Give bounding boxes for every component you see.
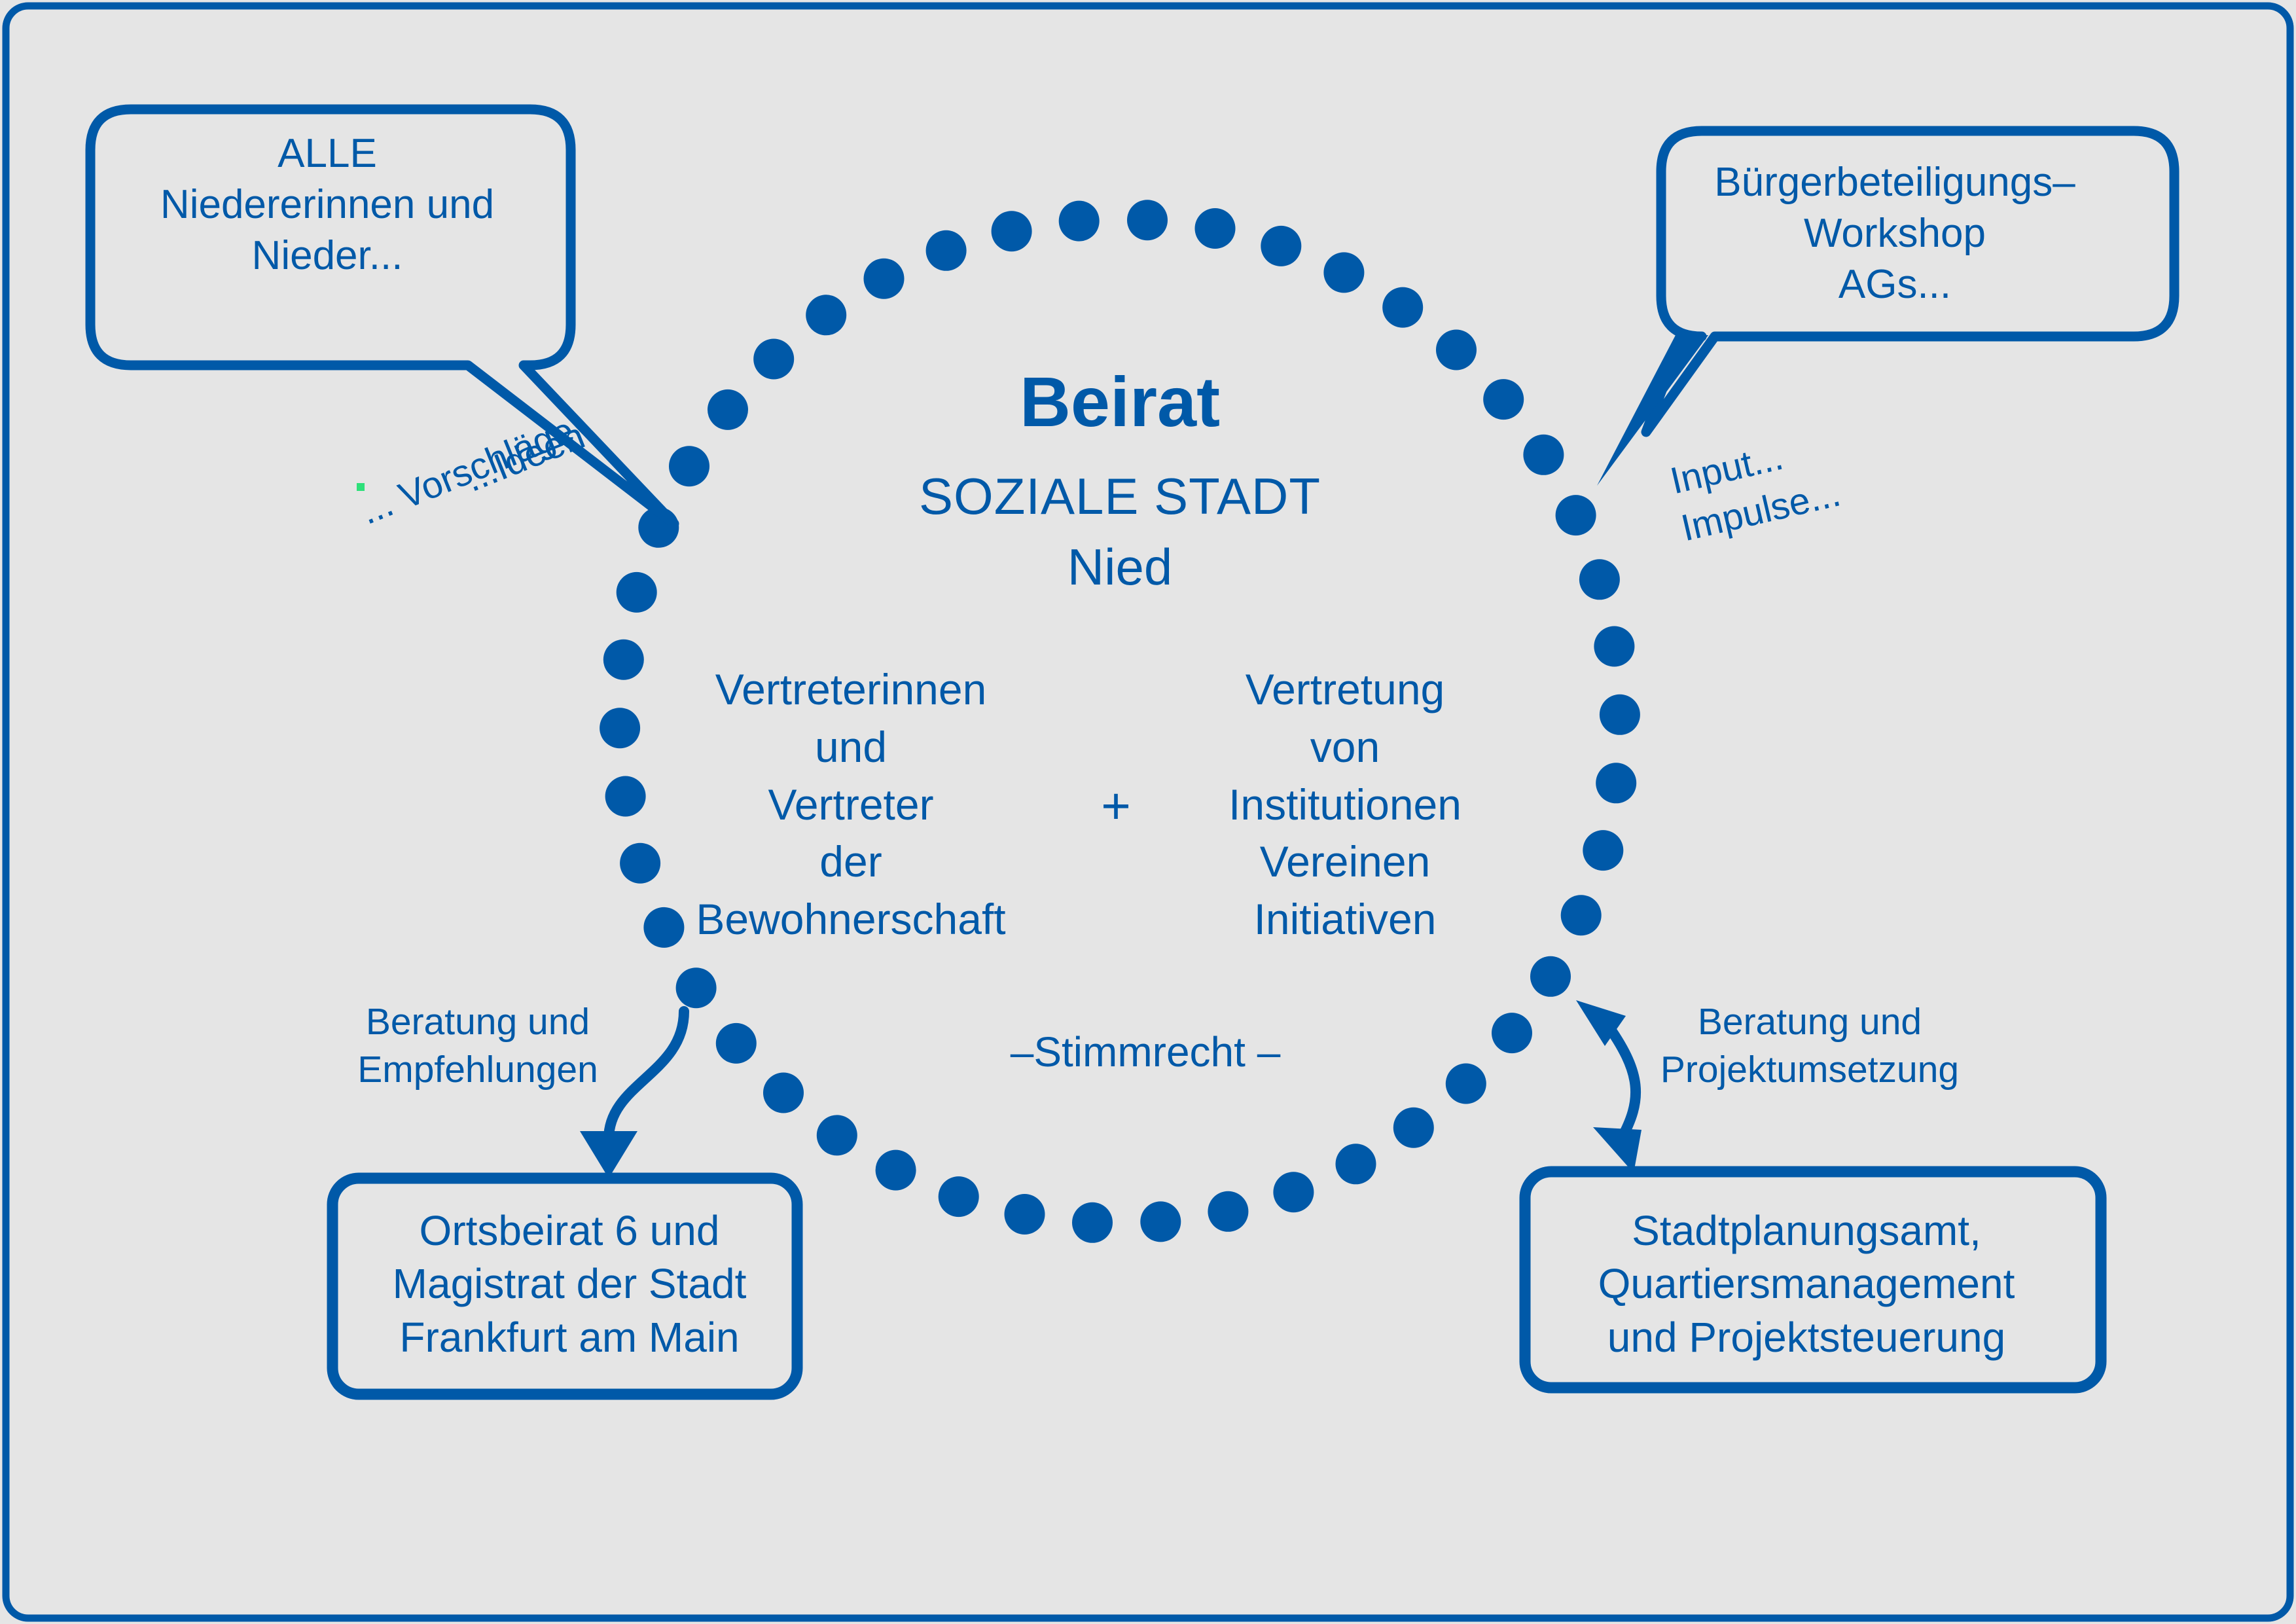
ring-dot <box>876 1150 916 1191</box>
diagram-vector-layer <box>0 0 2296 1624</box>
ring-dot <box>600 708 640 748</box>
ring-dot <box>864 259 905 299</box>
ring-dot <box>1594 626 1634 667</box>
ring-dot <box>605 776 646 817</box>
ring-dot <box>1127 200 1168 240</box>
green-accent-marker <box>357 483 365 491</box>
ring-dot <box>1393 1108 1434 1148</box>
ring-dot <box>1072 1202 1113 1243</box>
arrow-beratung-projektumsetzung <box>1576 1000 1641 1173</box>
ring-dot <box>716 1023 757 1064</box>
ring-dot <box>1261 226 1301 266</box>
ring-dot <box>1382 287 1423 328</box>
ring-dot <box>1583 830 1623 871</box>
box-ortsbeirat[interactable] <box>332 1178 797 1394</box>
ring-dot <box>1059 201 1100 242</box>
ring-dot <box>939 1176 979 1217</box>
ring-dot <box>1005 1194 1045 1235</box>
speech-bubble-top-right[interactable] <box>1597 131 2174 486</box>
ring-dot <box>676 967 717 1008</box>
ring-dot <box>806 295 846 335</box>
ring-dot <box>817 1115 857 1155</box>
ring-dot <box>1596 763 1636 803</box>
arrow-beratung-empfehlungen <box>580 1011 684 1178</box>
diagram-canvas: ALLE Niedererinnen und Nieder... Bürgerb… <box>0 0 2296 1624</box>
ring-dot <box>1273 1172 1314 1212</box>
ring-dot <box>992 211 1032 251</box>
ring-dot <box>620 843 660 884</box>
outer-rounded-frame <box>6 6 2290 1618</box>
ring-dot <box>1492 1013 1532 1053</box>
ring-dot <box>1483 379 1524 420</box>
ring-dot <box>1600 695 1640 735</box>
dotted-circle <box>600 200 1640 1243</box>
ring-dot <box>669 446 709 486</box>
ring-dot <box>1336 1144 1376 1184</box>
ring-dot <box>1436 330 1477 370</box>
ring-dot <box>1530 956 1571 997</box>
ring-dot <box>617 572 657 613</box>
ring-dot <box>1523 435 1564 475</box>
ring-dot <box>1195 208 1236 249</box>
ring-dot <box>926 230 967 271</box>
ring-dot <box>1208 1191 1248 1232</box>
speech-bubble-top-left[interactable] <box>90 109 674 524</box>
box-stadtplanungsamt[interactable] <box>1525 1172 2101 1388</box>
ring-dot <box>1561 895 1602 935</box>
ring-dot <box>1323 252 1364 293</box>
ring-dot <box>763 1073 804 1113</box>
ring-dot <box>708 389 748 430</box>
ring-dot <box>1446 1064 1486 1104</box>
ring-dot <box>1556 495 1596 535</box>
ring-dot <box>643 907 684 948</box>
ring-dot <box>603 640 644 680</box>
ring-dot <box>1140 1201 1181 1242</box>
ring-dot <box>1579 559 1620 600</box>
ring-dot <box>753 339 794 380</box>
